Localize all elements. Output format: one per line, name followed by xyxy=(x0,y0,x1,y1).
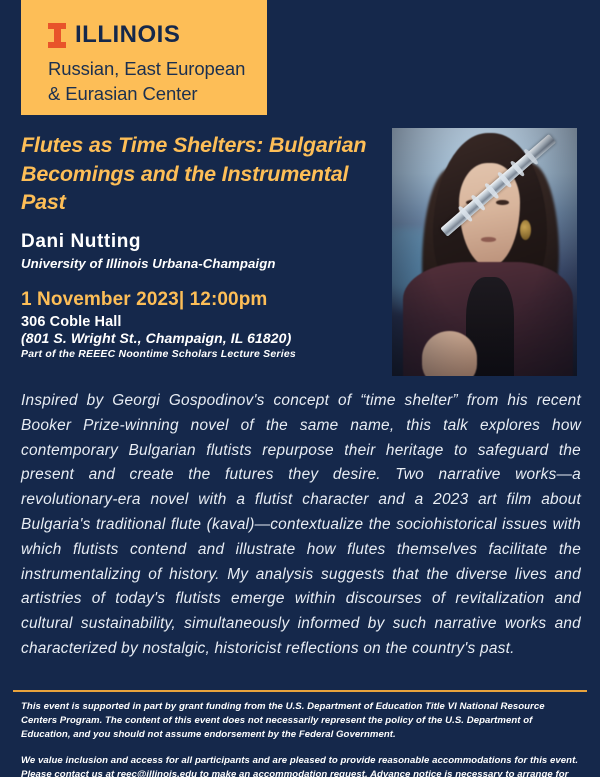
event-title: Flutes as Time Shelters: Bulgarian Becom… xyxy=(21,131,377,217)
speaker-affiliation: University of Illinois Urbana-Champaign xyxy=(21,256,381,271)
illinois-block-i-icon xyxy=(48,23,66,48)
center-name-line2: & Eurasian Center xyxy=(48,82,267,107)
photo-vignette xyxy=(392,128,577,376)
footer-divider xyxy=(13,690,587,692)
event-address: (801 S. Wright St., Champaign, IL 61820) xyxy=(21,330,381,346)
event-date-time: 1 November 2023| 12:00pm xyxy=(21,288,381,313)
illinois-branding-panel: ILLINOIS Russian, East European & Eurasi… xyxy=(21,0,267,115)
event-poster: ILLINOIS Russian, East European & Eurasi… xyxy=(0,0,600,777)
illinois-logo-lockup: ILLINOIS xyxy=(48,22,267,48)
accessibility-notice: We value inclusion and access for all pa… xyxy=(21,754,583,777)
event-series: Part of the REEEC Noontime Scholars Lect… xyxy=(21,348,381,360)
event-venue: 306 Coble Hall xyxy=(21,314,381,330)
illinois-wordmark: ILLINOIS xyxy=(75,23,180,47)
event-abstract: Inspired by Georgi Gospodinov's concept … xyxy=(21,389,581,662)
speaker-block: Dani Nutting University of Illinois Urba… xyxy=(21,230,381,271)
grant-notice: This event is supported in part by grant… xyxy=(21,700,583,742)
center-name-line1: Russian, East European xyxy=(48,57,267,82)
footer-notices: This event is supported in part by grant… xyxy=(21,700,583,777)
center-name: Russian, East European & Eurasian Center xyxy=(48,57,267,106)
event-details-block: 1 November 2023| 12:00pm 306 Coble Hall … xyxy=(21,288,381,346)
speaker-name: Dani Nutting xyxy=(21,230,381,254)
speaker-photo xyxy=(392,128,577,376)
